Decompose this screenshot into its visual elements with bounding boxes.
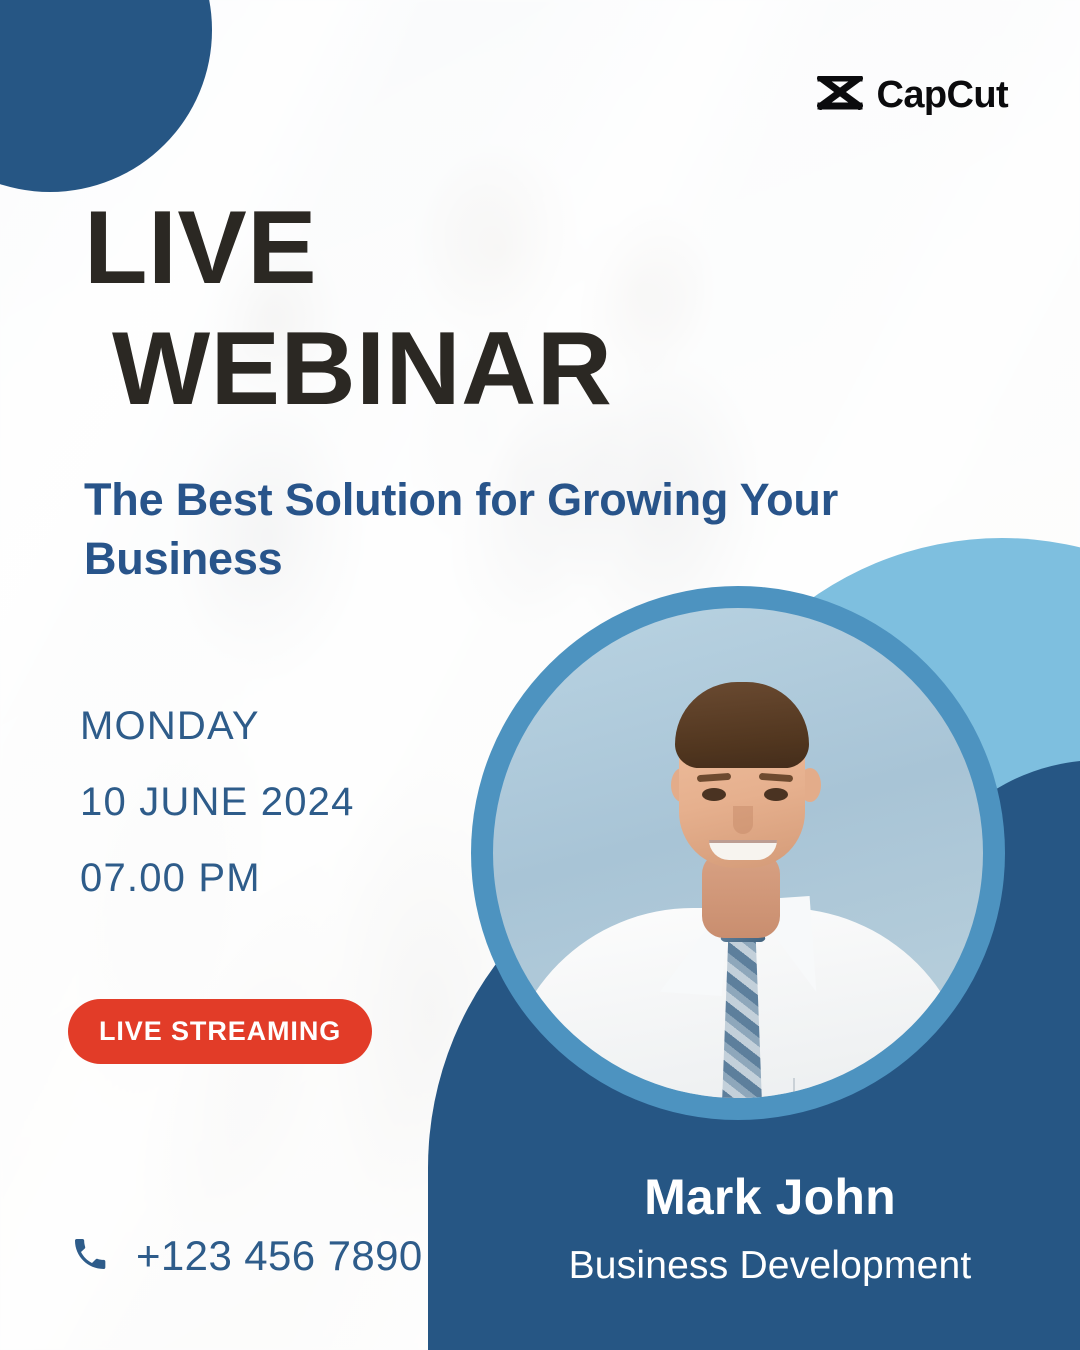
contact-phone[interactable]: +123 456 7890 — [70, 1232, 423, 1280]
event-datetime: MONDAY 10 JUNE 2024 07.00 PM — [80, 706, 355, 934]
webinar-poster: CapCut LIVE WEBINAR The Best Solution fo… — [0, 0, 1080, 1350]
speaker-name: Mark John — [460, 1168, 1080, 1226]
title-line-1: LIVE — [84, 190, 317, 306]
page-title: LIVE WEBINAR — [84, 188, 612, 429]
event-time: 07.00 PM — [80, 858, 355, 898]
event-date: 10 JUNE 2024 — [80, 782, 355, 822]
speaker-role: Business Development — [460, 1244, 1080, 1288]
portrait-hair — [675, 682, 809, 768]
phone-number-text: +123 456 7890 — [136, 1232, 423, 1280]
portrait-shirt-pocket — [793, 1078, 883, 1098]
speaker-info: Mark John Business Development — [460, 1168, 1080, 1288]
portrait-nose — [733, 806, 753, 834]
phone-handset-icon — [70, 1234, 110, 1279]
title-line-2: WEBINAR — [112, 309, 612, 430]
portrait-eye-left — [702, 788, 726, 801]
page-subtitle: The Best Solution for Growing Your Busin… — [84, 470, 874, 589]
capcut-logo-text: CapCut — [877, 74, 1009, 117]
event-day: MONDAY — [80, 706, 355, 746]
capcut-logo: CapCut — [817, 74, 1009, 117]
portrait-mouth — [709, 840, 777, 860]
live-streaming-badge[interactable]: LIVE STREAMING — [68, 999, 372, 1064]
speaker-photo-ring — [471, 586, 1005, 1120]
portrait-eye-right — [764, 788, 788, 801]
speaker-photo — [493, 608, 983, 1098]
capcut-bowtie-icon — [817, 76, 863, 115]
